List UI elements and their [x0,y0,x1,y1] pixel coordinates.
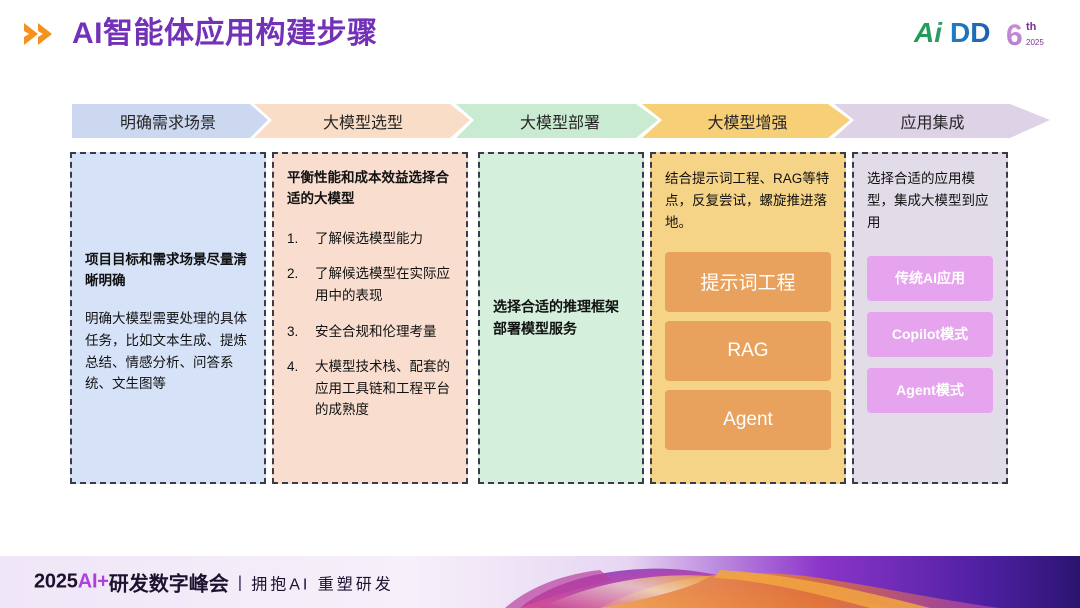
list-item-index: 1. [287,228,315,250]
footer-separator: | [238,572,242,592]
svg-text:Ai: Ai [913,17,943,48]
svg-text:DD: DD [950,17,990,48]
chevron-label-3: 大模型部署 [470,110,650,138]
aidd-logo: Ai DD 6 th 2025 [912,12,1062,56]
chevron-label-5: 应用集成 [850,110,1015,138]
list-item-label: 大模型技术栈、配套的应用工具链和工程平台的成熟度 [315,356,453,421]
column-4-body: 结合提示词工程、RAG等特点，反复尝试，螺旋推进落地。 [665,168,831,234]
column-integration: 选择合适的应用模型，集成大模型到应用 传统AI应用 Copilot模式 Agen… [852,152,1008,484]
list-item: 3. 安全合规和伦理考量 [287,321,453,343]
card-rag[interactable]: RAG [665,321,831,381]
slide-header: AI智能体应用构建步骤 Ai DD 6 th [0,0,1080,82]
chevron-label-4: 大模型增强 [655,110,840,138]
list-item-index: 2. [287,263,315,306]
column-model-selection: 平衡性能和成本效益选择合适的大模型 1. 了解候选模型能力 2. 了解候选模型在… [272,152,468,484]
title-group: AI智能体应用构建步骤 [24,19,378,49]
chevron-label-2: 大模型选型 [268,110,458,138]
card-agent-mode[interactable]: Agent模式 [867,368,993,413]
model-selection-list: 1. 了解候选模型能力 2. 了解候选模型在实际应用中的表现 3. 安全合规和伦… [287,228,453,421]
list-item-index: 4. [287,356,315,421]
card-agent[interactable]: Agent [665,390,831,450]
list-item: 1. 了解候选模型能力 [287,228,453,250]
list-item-index: 3. [287,321,315,343]
card-traditional-ai-app[interactable]: 传统AI应用 [867,256,993,301]
footer-year: 2025 [34,571,78,594]
slide-footer: 2025 AI+ 研发数字峰会 | 拥抱AI 重塑研发 [0,556,1080,608]
column-3-heading: 选择合适的推理框架部署模型服务 [493,296,629,341]
card-prompt-engineering[interactable]: 提示词工程 [665,252,831,312]
double-chevron-right-icon [24,21,60,47]
footer-branding: 2025 AI+ 研发数字峰会 | 拥抱AI 重塑研发 [34,568,394,597]
footer-tagline: 拥抱AI 重塑研发 [251,570,394,594]
content-columns: 项目目标和需求场景尽量清晰明确 明确大模型需要处理的具体任务，比如文本生成、提炼… [0,152,1080,484]
column-deployment: 选择合适的推理框架部署模型服务 [478,152,644,484]
column-1-heading: 项目目标和需求场景尽量清晰明确 [85,250,251,292]
svg-text:th: th [1026,21,1037,33]
svg-text:2025: 2025 [1026,38,1044,47]
footer-brand-cn: 研发数字峰会 [109,568,229,597]
list-item-label: 了解候选模型在实际应用中的表现 [315,263,453,306]
card-copilot-mode[interactable]: Copilot模式 [867,312,993,357]
footer-ai-plus: AI+ [78,571,109,594]
enhancement-card-list: 提示词工程 RAG Agent [665,252,831,450]
slide: AI智能体应用构建步骤 Ai DD 6 th [0,0,1080,608]
column-enhancement: 结合提示词工程、RAG等特点，反复尝试，螺旋推进落地。 提示词工程 RAG Ag… [650,152,846,484]
list-item-label: 安全合规和伦理考量 [315,321,453,343]
svg-text:6: 6 [1006,19,1023,52]
list-item: 4. 大模型技术栈、配套的应用工具链和工程平台的成熟度 [287,356,453,421]
column-5-body: 选择合适的应用模型，集成大模型到应用 [867,168,993,234]
page-title: AI智能体应用构建步骤 [72,19,378,49]
chevron-label-1: 明确需求场景 [78,110,258,138]
integration-card-list: 传统AI应用 Copilot模式 Agent模式 [867,256,993,413]
list-item: 2. 了解候选模型在实际应用中的表现 [287,263,453,306]
list-item-label: 了解候选模型能力 [315,228,453,250]
column-2-heading: 平衡性能和成本效益选择合适的大模型 [287,168,453,210]
column-1-body: 明确大模型需要处理的具体任务，比如文本生成、提炼总结、情感分析、问答系统、文生图… [85,308,251,395]
column-requirements: 项目目标和需求场景尽量清晰明确 明确大模型需要处理的具体任务，比如文本生成、提炼… [70,152,266,484]
